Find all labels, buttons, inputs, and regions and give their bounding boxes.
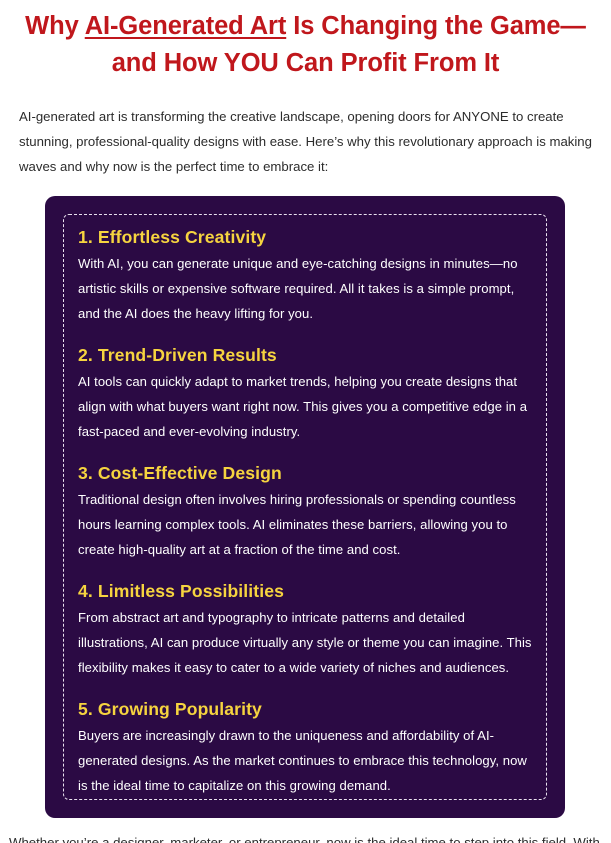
feature-item: 4. Limitless Possibilities From abstract…	[78, 578, 532, 680]
feature-item: 2. Trend-Driven Results AI tools can qui…	[78, 342, 532, 444]
trailing-paragraph: Whether you’re a designer, marketer, or …	[9, 830, 601, 843]
intro-paragraph: AI-generated art is transforming the cre…	[10, 82, 601, 179]
feature-heading: 1. Effortless Creativity	[78, 224, 532, 250]
feature-item: 1. Effortless Creativity With AI, you ca…	[78, 224, 532, 326]
feature-body: AI tools can quickly adapt to market tre…	[78, 369, 532, 444]
feature-heading: 4. Limitless Possibilities	[78, 578, 532, 604]
feature-body: Traditional design often involves hiring…	[78, 487, 532, 562]
article-page: Why AI-Generated Art Is Changing the Gam…	[0, 0, 611, 843]
feature-heading: 3. Cost-Effective Design	[78, 460, 532, 486]
feature-heading: 5. Growing Popularity	[78, 696, 532, 722]
title-part-before: Why	[25, 12, 85, 40]
page-title: Why AI-Generated Art Is Changing the Gam…	[10, 0, 601, 82]
feature-body: Buyers are increasingly drawn to the uni…	[78, 723, 532, 798]
feature-body: From abstract art and typography to intr…	[78, 605, 532, 680]
feature-item: 3. Cost-Effective Design Traditional des…	[78, 460, 532, 562]
title-highlight-ai-generated-art: AI-Generated Art	[85, 12, 287, 40]
feature-card-dashed-frame: 1. Effortless Creativity With AI, you ca…	[63, 214, 547, 800]
feature-card: 1. Effortless Creativity With AI, you ca…	[45, 196, 565, 818]
feature-heading: 2. Trend-Driven Results	[78, 342, 532, 368]
feature-item: 5. Growing Popularity Buyers are increas…	[78, 696, 532, 798]
feature-body: With AI, you can generate unique and eye…	[78, 251, 532, 326]
